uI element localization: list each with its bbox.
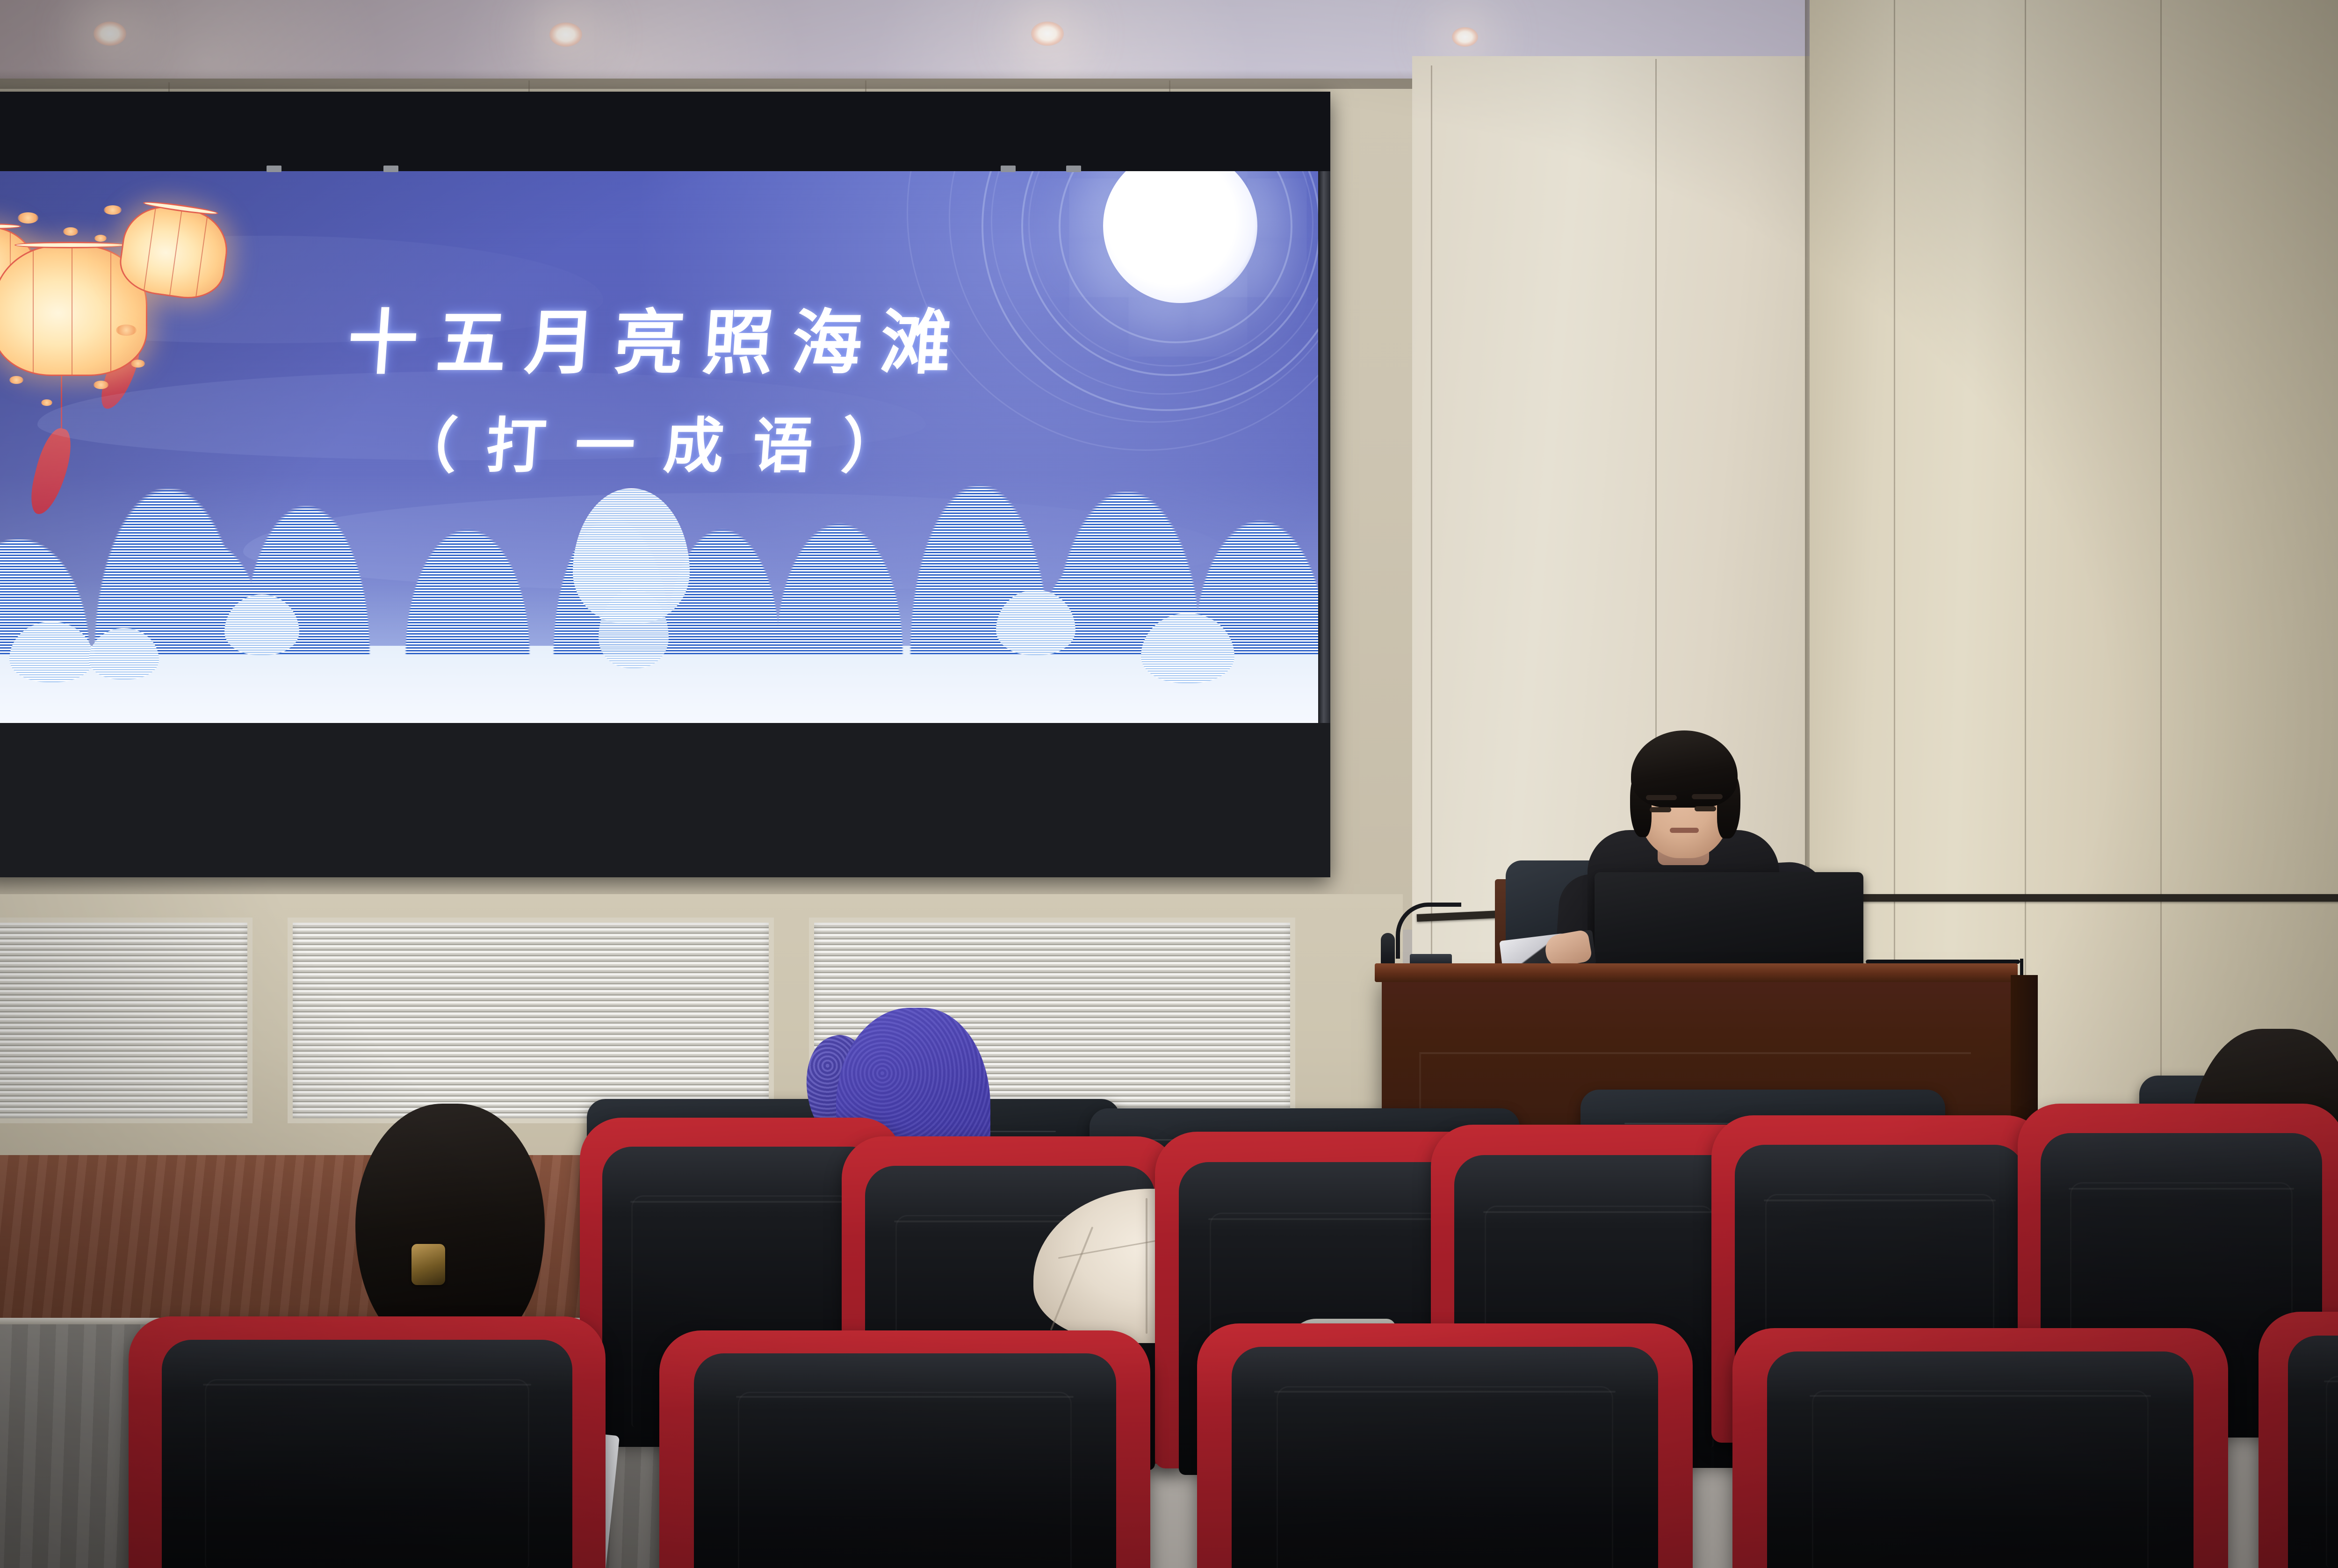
screen-bezel-bottom [0,723,1330,877]
lantern-spark [63,227,78,236]
cap-seam [1146,1198,1147,1334]
wall-reveal-line [1812,894,2338,902]
presenter-eyebrow [1692,794,1723,799]
ceiling-downlight-icon [1031,22,1064,46]
auditorium-seat[interactable] [129,1316,606,1568]
presenter-eyebrow [1646,795,1677,800]
auditorium-scene: 十五月亮照海滩 （打一成语） DELL [0,0,2338,1568]
seat-inner-panel [2326,1376,2338,1568]
seat-inner-panel [1812,1390,2149,1568]
wall-vent-panel [288,918,774,1123]
auditorium-seat[interactable] [659,1330,1150,1568]
laptop-device[interactable]: DELL [1595,872,1863,977]
audience-head [355,1104,545,1347]
slide-headline-line2: （打一成语） [0,397,1318,484]
led-display-screen: 十五月亮照海滩 （打一成语） [0,92,1330,877]
screen-module-marker [383,166,398,172]
ceiling-downlight-icon [549,22,582,47]
wall-panel-seam [2160,0,2162,1104]
auditorium-seat[interactable] [2259,1312,2338,1568]
wall-vent-panel [0,918,253,1123]
wall-top-band [0,79,1417,89]
presenter-eye [1695,806,1716,811]
slide-content: 十五月亮照海滩 （打一成语） [0,170,1318,724]
seat-inner-panel [205,1379,529,1568]
podium-counter-top [1375,963,2018,982]
slide-headline-line1: 十五月亮照海滩 [0,286,1318,388]
presenter-mouth [1670,828,1699,833]
ceiling-downlight-icon [94,22,126,46]
presenter-eye [1650,807,1671,812]
screen-module-marker [1066,166,1081,172]
auditorium-seat[interactable] [1732,1328,2228,1568]
screen-bezel-top [0,92,1330,171]
seat-inner-panel [738,1392,1072,1568]
lantern-spark [94,235,107,242]
screen-module-marker [1001,166,1016,172]
lantern-spark [104,205,122,215]
screen-module-marker [267,166,281,172]
ceiling-downlight-icon [1452,27,1478,47]
seat-inner-panel [1277,1386,1614,1568]
hair-clip-accessory [411,1244,445,1285]
cap-seam [1050,1226,1094,1330]
auditorium-seat[interactable] [1197,1323,1693,1568]
lantern-spark [18,212,38,224]
